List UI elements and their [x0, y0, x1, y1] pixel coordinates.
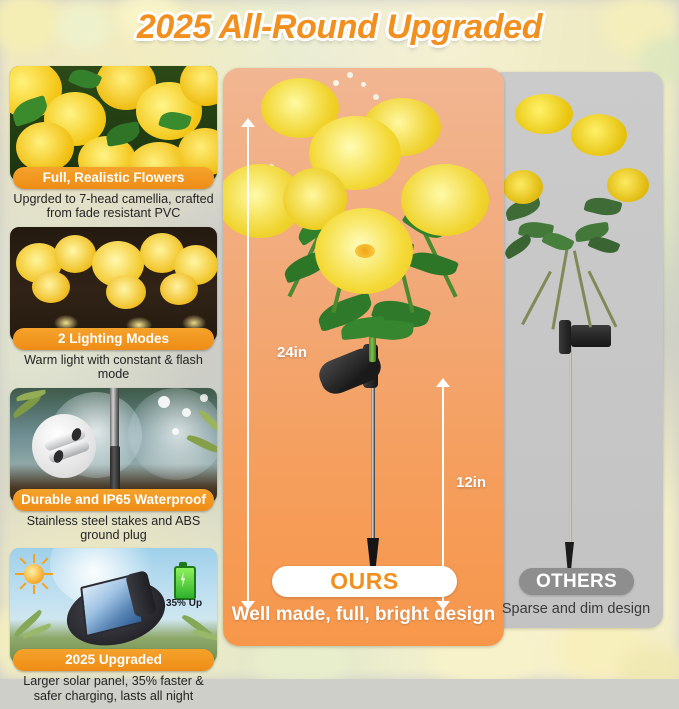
- feature-item: 35% Up 2025 Upgraded Larger solar panel,…: [10, 548, 217, 703]
- battery-icon: [174, 566, 196, 600]
- sun-icon: [24, 564, 44, 584]
- feature-caption: Upgrded to 7-head camellia, crafted from…: [10, 192, 217, 221]
- feature-image-waterproof: [10, 388, 217, 503]
- dimension-24in: 24in: [241, 118, 255, 610]
- feature-badge: 2025 Upgraded: [13, 649, 214, 671]
- ours-panel: 24in 12in: [223, 68, 504, 646]
- feature-caption: Stainless steel stakes and ABS ground pl…: [10, 514, 217, 543]
- feature-item: Full, Realistic Flowers Upgrded to 7-hea…: [10, 66, 217, 221]
- others-flower: [515, 94, 573, 134]
- dimension-label-12in: 12in: [456, 474, 486, 491]
- feature-image-flowers: [10, 66, 217, 181]
- others-flower: [503, 170, 543, 204]
- others-caption: Sparse and dim design: [489, 601, 663, 617]
- others-flower: [571, 114, 627, 156]
- dimension-label-24in: 24in: [277, 344, 307, 361]
- feature-caption: Warm light with constant & flash mode: [10, 353, 217, 382]
- others-panel: [489, 72, 663, 628]
- feature-item: 2 Lighting Modes Warm light with constan…: [10, 227, 217, 382]
- ours-flower: [401, 164, 489, 236]
- feature-badge: Full, Realistic Flowers: [13, 167, 214, 189]
- feature-image-solar: 35% Up: [10, 548, 217, 663]
- battery-label: 35% Up: [156, 598, 212, 609]
- others-flower: [607, 168, 649, 202]
- dimension-line: [247, 124, 249, 604]
- feature-item: Durable and IP65 Waterproof Stainless st…: [10, 388, 217, 543]
- feature-badge: 2 Lighting Modes: [13, 328, 214, 350]
- feature-image-lighting: [10, 227, 217, 342]
- feature-badge: Durable and IP65 Waterproof: [13, 489, 214, 511]
- feature-list: Full, Realistic Flowers Upgrded to 7-hea…: [10, 66, 217, 709]
- ours-caption: Well made, full, bright design: [223, 604, 504, 626]
- page-title: 2025 All-Round Upgraded: [0, 8, 679, 47]
- ours-label-pill: OURS: [272, 566, 457, 597]
- others-label-pill: OTHERS: [519, 568, 634, 595]
